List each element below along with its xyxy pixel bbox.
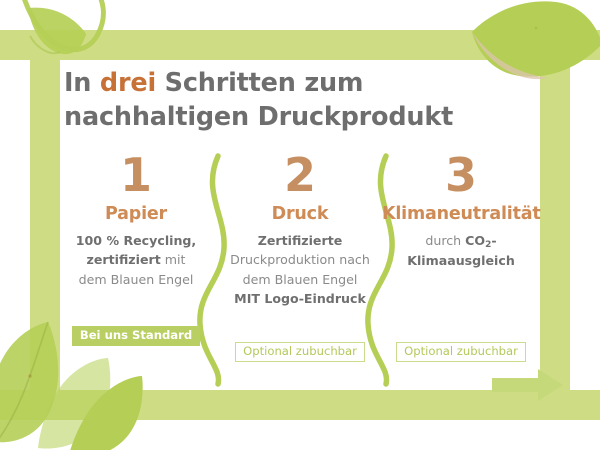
step-body-3: durch CO2-Klimaausgleich xyxy=(382,231,540,270)
step-column-2: 2 Druck ZertifizierteDruckproduktion nac… xyxy=(220,152,380,308)
headline-line2: nachhaltigen Druckprodukt xyxy=(64,102,453,132)
step-number-2: 2 xyxy=(220,152,380,198)
step-column-3: 3 Klimaneutralität durch CO2-Klimaausgle… xyxy=(382,152,540,270)
frame-border-top xyxy=(0,30,600,60)
step-badge-wrap-1: Bei uns Standard xyxy=(62,324,210,346)
status-badge-3[interactable]: Optional zubuchbar xyxy=(396,342,526,362)
frame-border-bottom xyxy=(0,390,600,420)
step-column-1: 1 Papier 100 % Recycling,zertifiziert mi… xyxy=(62,152,210,289)
headline-accent-word: drei xyxy=(100,68,156,98)
step-number-1: 1 xyxy=(62,152,210,198)
step-title-3: Klimaneutralität xyxy=(382,205,540,224)
step-body-1: 100 % Recycling,zertifiziert mitdem Blau… xyxy=(62,231,210,288)
step-badge-wrap-3: Optional zubuchbar xyxy=(382,340,540,362)
headline-line1-post: Schritten zum xyxy=(156,68,363,98)
step-badge-wrap-2: Optional zubuchbar xyxy=(220,340,380,362)
frame-border-left xyxy=(30,30,60,420)
step-number-3: 3 xyxy=(382,152,540,198)
status-badge-1[interactable]: Bei uns Standard xyxy=(72,326,200,346)
infographic-canvas: In drei Schritten zum nachhaltigen Druck… xyxy=(0,0,600,450)
step-body-2: ZertifizierteDruckproduktion nachdem Bla… xyxy=(220,231,380,308)
frame-border-right xyxy=(540,30,570,420)
content-area: In drei Schritten zum nachhaltigen Druck… xyxy=(60,60,540,390)
step-title-2: Druck xyxy=(220,205,380,224)
status-badge-2[interactable]: Optional zubuchbar xyxy=(235,342,365,362)
step-title-1: Papier xyxy=(62,205,210,224)
page-title: In drei Schritten zum nachhaltigen Druck… xyxy=(64,67,514,134)
headline-line1-pre: In xyxy=(64,68,100,98)
steps-container: 1 Papier 100 % Recycling,zertifiziert mi… xyxy=(60,152,540,392)
